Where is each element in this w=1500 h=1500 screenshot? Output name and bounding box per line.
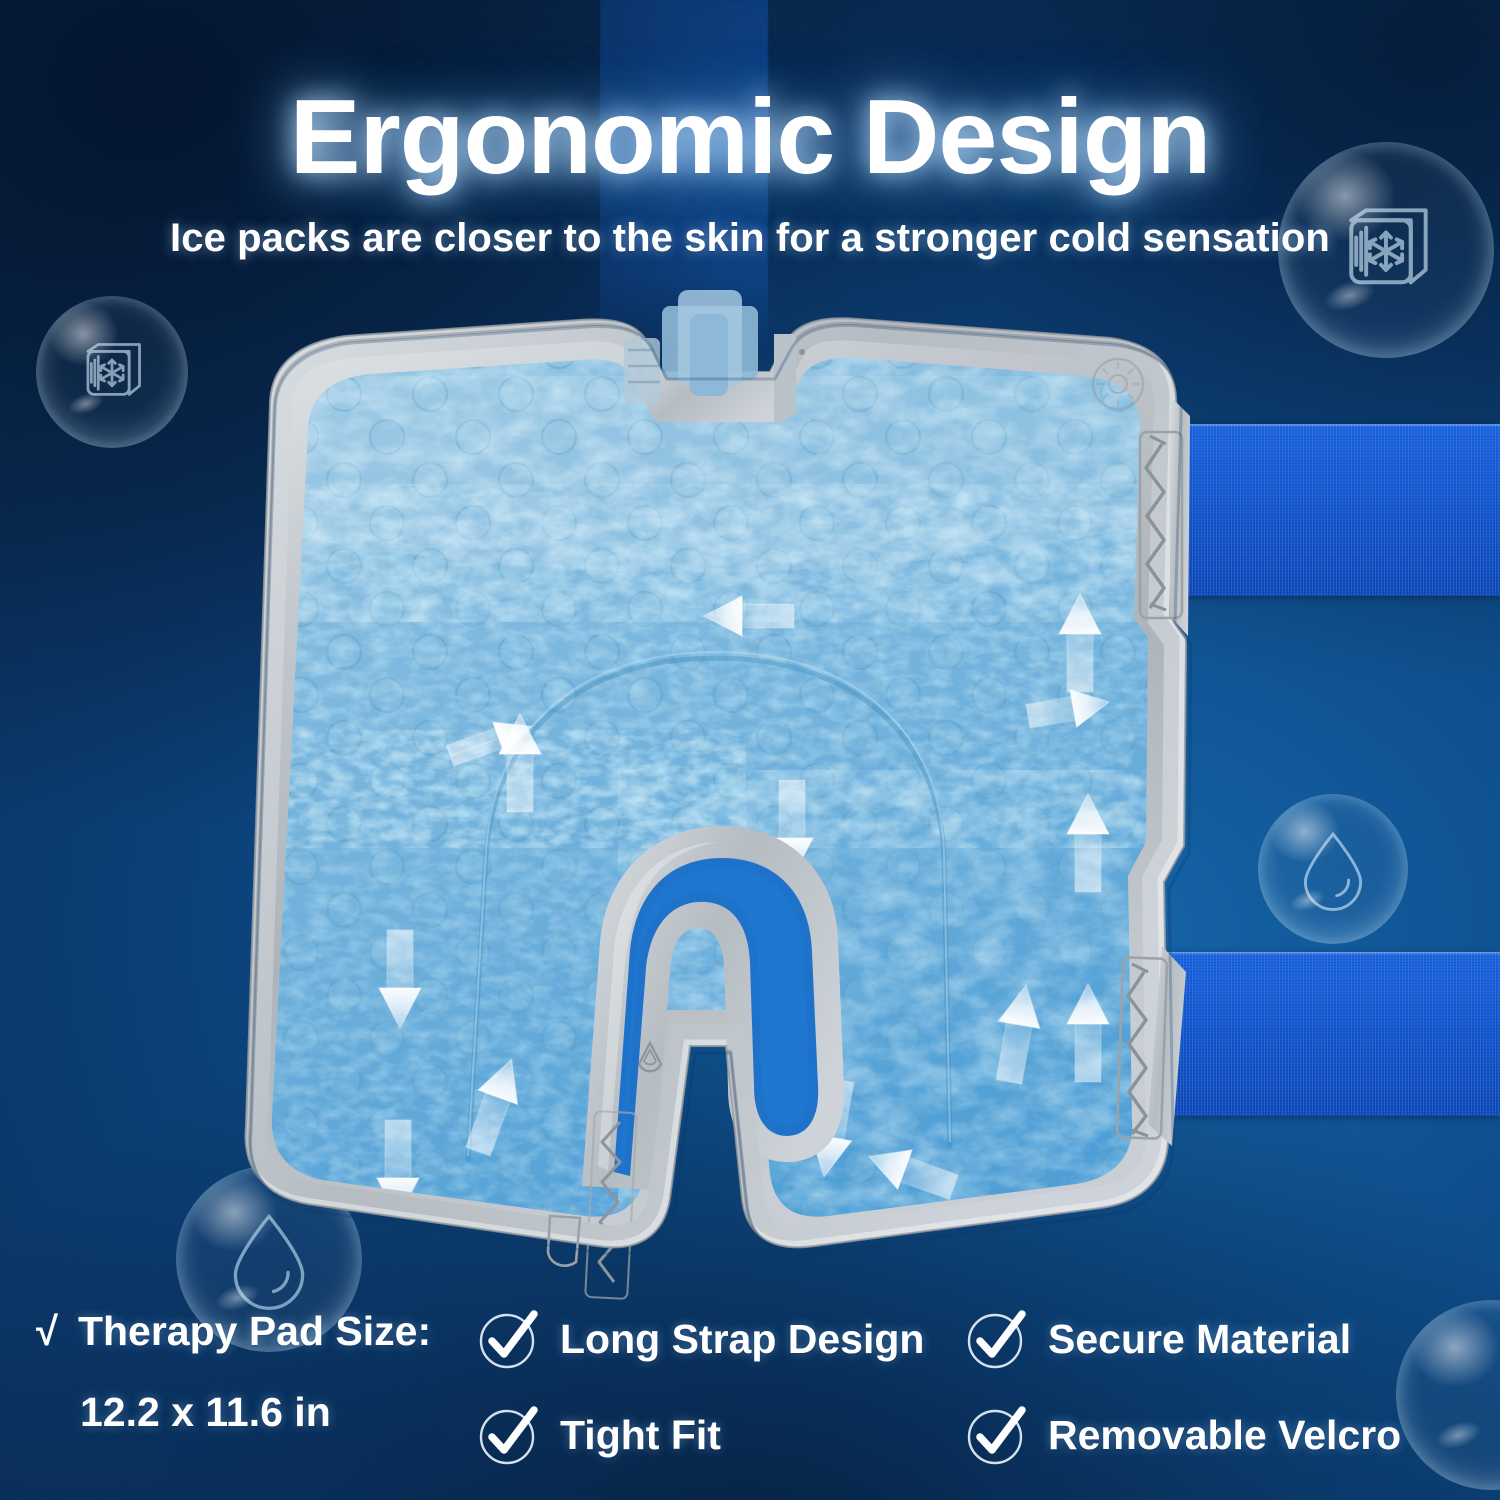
- top-fill-valve-connector: [624, 290, 805, 424]
- circled-check-icon: [966, 1404, 1028, 1466]
- feature-row-tight-fit: Tight Fit: [478, 1404, 960, 1466]
- circled-check-icon: [966, 1308, 1028, 1370]
- feature-row-long-strap-design: Long Strap Design: [478, 1308, 960, 1370]
- tick-glyph-icon: √: [36, 1312, 58, 1352]
- circled-check-icon: [478, 1308, 540, 1370]
- feature-label: Tight Fit: [560, 1412, 721, 1459]
- feature-list: √ Therapy Pad Size: 12.2 x 11.6 in Long …: [0, 1308, 1500, 1466]
- circled-check-icon: [478, 1404, 540, 1466]
- feature-row-removable-velcro: Removable Velcro: [966, 1404, 1500, 1466]
- page-subtitle: Ice packs are closer to the skin for a s…: [0, 216, 1500, 261]
- feature-label: Removable Velcro: [1048, 1412, 1401, 1459]
- feature-row-pad-size: √ Therapy Pad Size:: [36, 1308, 470, 1355]
- feature-column-strap: Long Strap Design Tight Fit: [470, 1308, 960, 1466]
- infographic-canvas: Ergonomic Design Ice packs are closer to…: [0, 0, 1500, 1500]
- feature-label: 12.2 x 11.6 in: [80, 1389, 331, 1436]
- feature-column-therapy-pad-size: √ Therapy Pad Size: 12.2 x 11.6 in: [0, 1308, 470, 1436]
- feature-label: Secure Material: [1048, 1316, 1351, 1363]
- header-block: Ergonomic Design Ice packs are closer to…: [0, 84, 1500, 261]
- feature-label: Therapy Pad Size:: [78, 1308, 431, 1355]
- feature-column-material: Secure Material Removable Velcro: [960, 1308, 1500, 1466]
- feature-row-pad-dimensions: 12.2 x 11.6 in: [36, 1389, 470, 1436]
- water-droplet-icon: [1258, 794, 1408, 944]
- cold-therapy-gel-pad: [150, 286, 1230, 1296]
- feature-label: Long Strap Design: [560, 1316, 924, 1363]
- bubble-droplet-mid-right: [1258, 794, 1408, 944]
- page-title: Ergonomic Design: [0, 84, 1500, 190]
- feature-row-secure-material: Secure Material: [966, 1308, 1500, 1370]
